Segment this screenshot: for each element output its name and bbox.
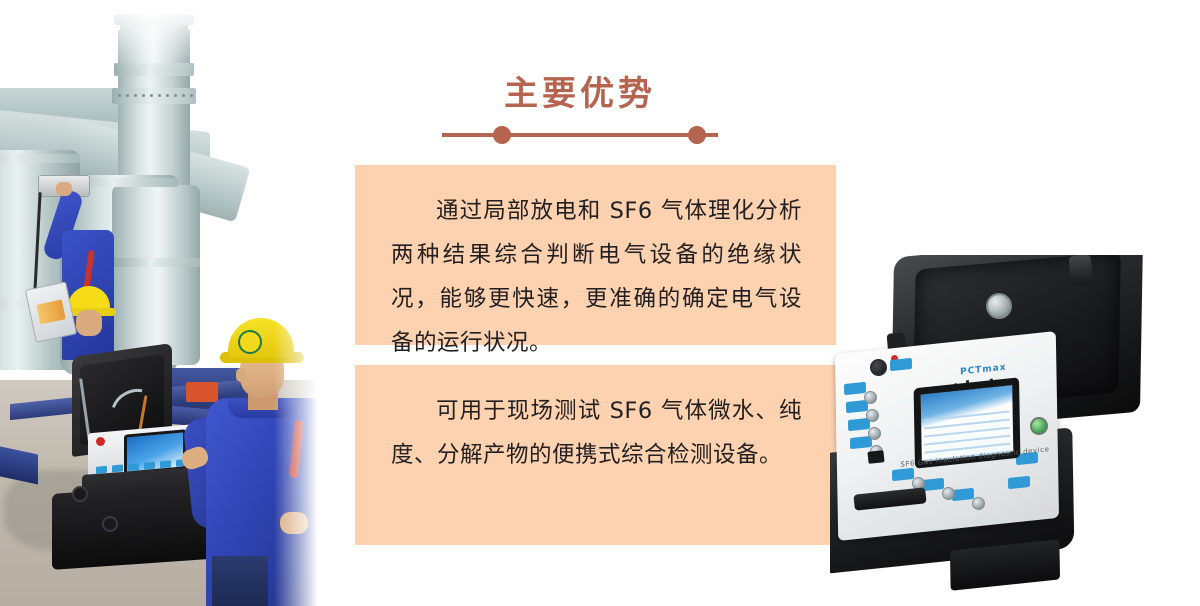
right-product-photo: PCTmax SF6 Gas insulation diagnostic dev… <box>830 255 1200 606</box>
divider-dot-left <box>493 126 511 144</box>
promo-page: 主要优势 通过局部放电和 SF6 气体理化分析两种结果综合判断电气设备的绝缘状况… <box>0 0 1200 606</box>
page-title: 主要优势 <box>420 74 740 114</box>
panel-button <box>890 358 912 371</box>
helmet-logo-icon <box>238 330 262 354</box>
gis-tank-ring <box>0 154 80 163</box>
case-lock <box>867 450 884 464</box>
panel-button <box>1008 476 1030 489</box>
panel-button <box>892 468 914 481</box>
title-divider <box>420 126 740 144</box>
photo-right-fade <box>274 0 330 606</box>
power-indicator-led <box>96 437 105 446</box>
warning-sign <box>186 382 218 402</box>
worker-upper-face <box>76 310 102 336</box>
case-wheel <box>102 516 118 532</box>
panel-button <box>922 478 944 491</box>
case-latch <box>1068 255 1093 286</box>
divider-dot-right <box>688 126 706 144</box>
advantage-card-2-text: 可用于现场测试 SF6 气体微水、纯度、分解产物的便携式综合检测设备。 <box>391 389 802 477</box>
advantage-card-2: 可用于现场测试 SF6 气体微水、纯度、分解产物的便携式综合检测设备。 <box>355 365 836 545</box>
advantage-card-1: 通过局部放电和 SF6 气体理化分析两种结果综合判断电气设备的绝缘状况，能够更快… <box>355 165 836 345</box>
gis-tank <box>112 185 200 365</box>
gis-bolt-row <box>116 91 196 101</box>
worker-upper-hand <box>56 182 72 196</box>
section-header: 主要优势 <box>420 74 740 144</box>
panel-button <box>952 488 974 501</box>
case-wheel <box>72 486 88 502</box>
gis-tank-ring <box>112 258 200 267</box>
panel-button <box>844 382 866 395</box>
worker-front-trousers <box>212 556 268 606</box>
divider-line <box>442 133 718 137</box>
left-photo <box>0 0 330 606</box>
worker-front-ear <box>236 368 246 382</box>
advantage-card-1-text: 通过局部放电和 SF6 气体理化分析两种结果综合判断电气设备的绝缘状况，能够更快… <box>391 189 802 365</box>
